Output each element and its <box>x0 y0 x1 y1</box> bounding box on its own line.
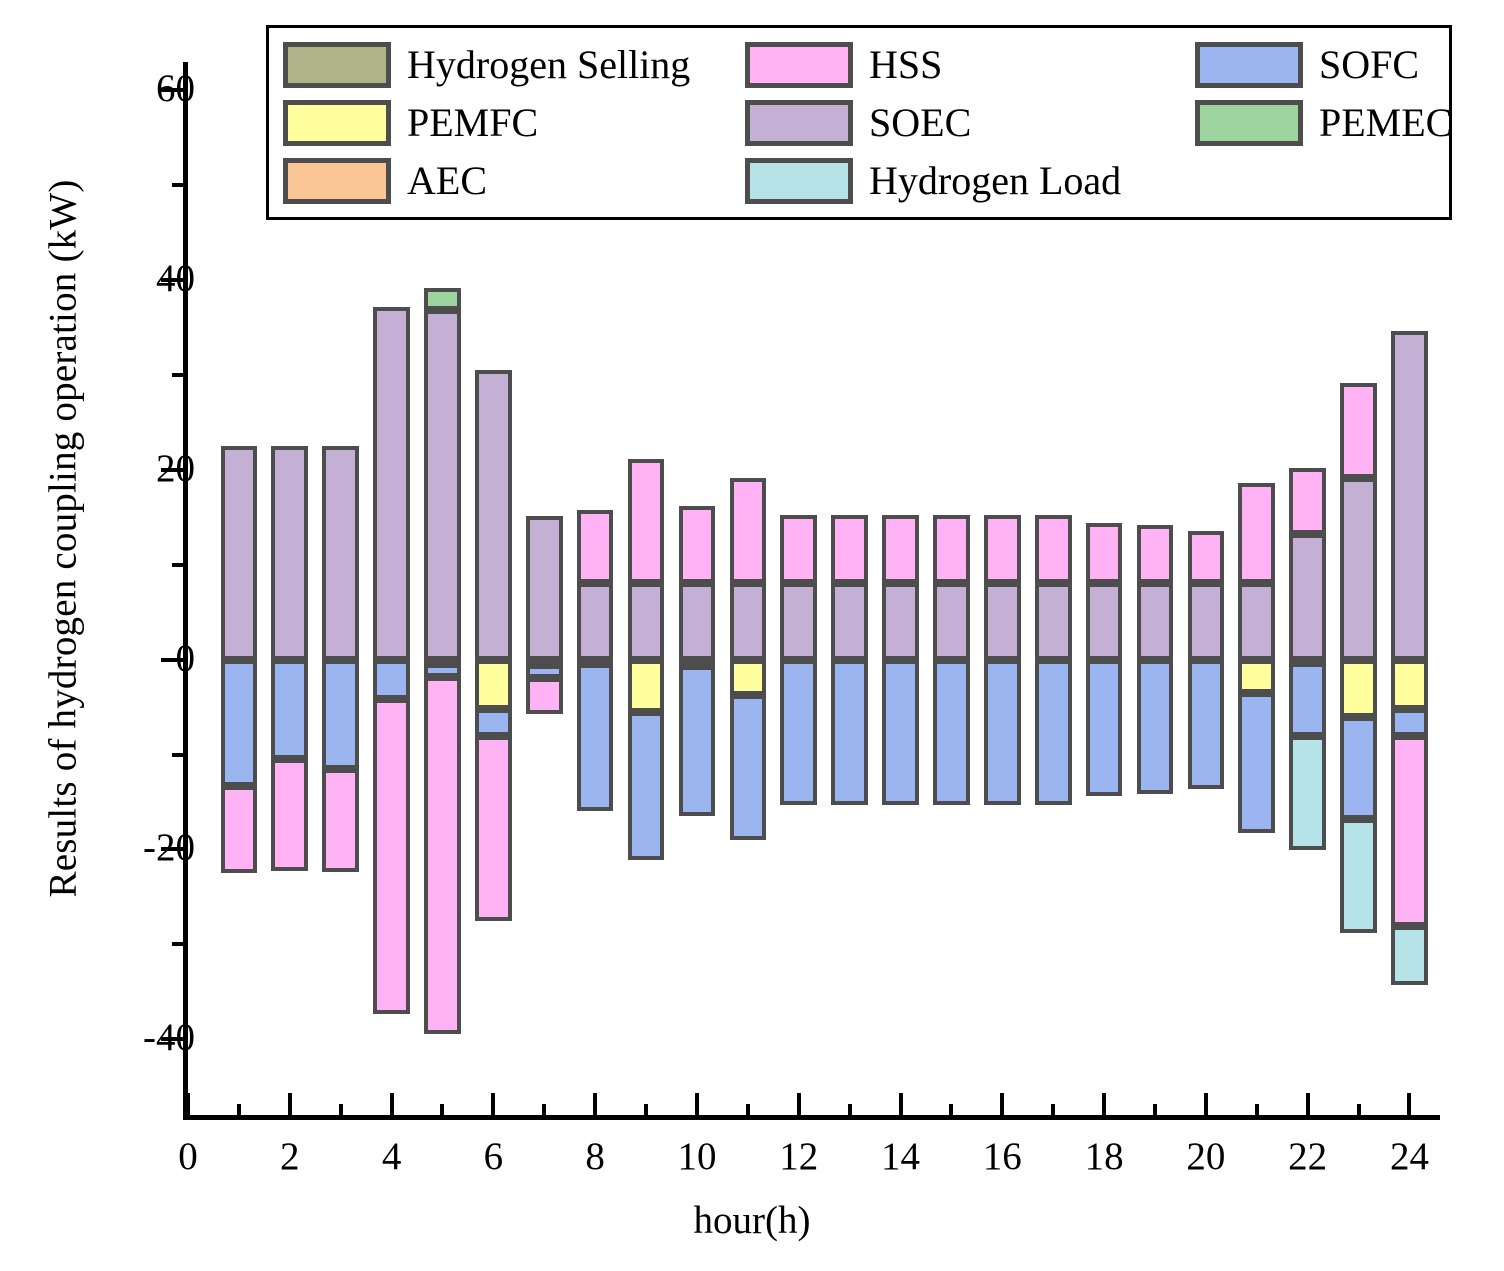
legend-label: SOFC <box>1319 45 1419 85</box>
bar-segment-sofc[interactable] <box>780 660 817 805</box>
bar-segment-soec[interactable] <box>882 583 919 660</box>
bar-segment-soec[interactable] <box>780 583 817 660</box>
bar-segment-sofc[interactable] <box>1238 693 1275 833</box>
legend-item-pemec[interactable]: PEMEC <box>1195 100 1465 146</box>
bar-segment-sofc[interactable] <box>628 712 665 860</box>
bar-segment-soec[interactable] <box>831 583 868 660</box>
bar-segment-soec[interactable] <box>1137 583 1174 660</box>
bar-segment-pemfc[interactable] <box>730 660 767 695</box>
bar-segment-soec[interactable] <box>730 583 767 660</box>
legend-item-hss[interactable]: HSS <box>745 42 1195 88</box>
legend-swatch <box>1195 42 1303 88</box>
chart-root: Results of hydrogen coupling operation (… <box>0 0 1504 1271</box>
bar-segment-sofc[interactable] <box>373 660 410 699</box>
y-tick-label: -20 <box>0 828 195 867</box>
bar-segment-sofc[interactable] <box>1391 709 1428 737</box>
bar-segment-sofc[interactable] <box>1137 660 1174 795</box>
legend-swatch <box>283 100 391 146</box>
bar-segment-soec[interactable] <box>1188 583 1225 660</box>
bar-segment-hss[interactable] <box>730 478 767 583</box>
legend-swatch <box>745 100 853 146</box>
legend-label: PEMFC <box>407 103 538 143</box>
y-tick-label: -40 <box>0 1018 195 1057</box>
legend-item-pemfc[interactable]: PEMFC <box>283 100 745 146</box>
legend-swatch <box>745 42 853 88</box>
bar-segment-sofc[interactable] <box>1188 660 1225 789</box>
bar-segment-soec[interactable] <box>271 446 308 659</box>
bar-segment-soec[interactable] <box>1289 534 1326 659</box>
bar-segment-sofc[interactable] <box>984 660 1021 805</box>
bar-segment-sofc[interactable] <box>933 660 970 805</box>
bar-segment-sofc[interactable] <box>1289 663 1326 735</box>
x-tick-major <box>186 1093 190 1120</box>
bar-segment-pemfc[interactable] <box>1238 660 1275 693</box>
y-axis-title: Results of hydrogen coupling operation (… <box>41 258 86 898</box>
legend-label: HSS <box>869 45 942 85</box>
legend-label: SOEC <box>869 103 971 143</box>
bar-segment-soec[interactable] <box>679 583 716 660</box>
bar-segment-hss[interactable] <box>221 786 258 873</box>
y-axis-line <box>183 62 188 1115</box>
bar-segment-hss[interactable] <box>1340 383 1377 479</box>
bar-segment-pemfc[interactable] <box>475 660 512 709</box>
bar-segment-sofc[interactable] <box>424 664 461 676</box>
bar-segment-hss[interactable] <box>1289 468 1326 534</box>
x-axis-line <box>183 1115 1440 1120</box>
y-tick-label: 60 <box>0 69 195 108</box>
bar-segment-pemec[interactable] <box>424 288 461 310</box>
legend-item-aec[interactable]: AEC <box>283 158 745 204</box>
bar-segment-soec[interactable] <box>984 583 1021 660</box>
bar-segment-soec[interactable] <box>1238 583 1275 660</box>
bar-segment-sofc[interactable] <box>577 664 614 811</box>
bar-segment-hss[interactable] <box>1035 515 1072 583</box>
legend-label: AEC <box>407 161 487 201</box>
bar-segment-hss[interactable] <box>475 736 512 921</box>
legend-item-hydrogen-load[interactable]: Hydrogen Load <box>745 158 1195 204</box>
bar-segment-sofc[interactable] <box>271 660 308 760</box>
bar-segment-hss[interactable] <box>1391 736 1428 926</box>
bar-segment-hydrogen-load[interactable] <box>1340 819 1377 933</box>
bar-segment-soec[interactable] <box>424 310 461 660</box>
chart-legend: Hydrogen SellingHSSSOFCPEMFCSOECPEMECAEC… <box>266 25 1452 220</box>
bar-segment-soec[interactable] <box>526 516 563 659</box>
legend-label: PEMEC <box>1319 103 1452 143</box>
bar-segment-hss[interactable] <box>1238 483 1275 583</box>
bar-segment-hss[interactable] <box>271 759 308 871</box>
bar-segment-sofc[interactable] <box>322 660 359 769</box>
bar-segment-hss[interactable] <box>322 769 359 872</box>
y-tick-minor <box>172 563 188 567</box>
bar-segment-hydrogen-load[interactable] <box>1391 926 1428 985</box>
bar-segment-soec[interactable] <box>1391 331 1428 659</box>
y-tick-label: 0 <box>0 639 195 678</box>
legend-swatch <box>283 158 391 204</box>
bar-segment-hss[interactable] <box>1137 525 1174 583</box>
legend-swatch <box>283 42 391 88</box>
bar-segment-hss[interactable] <box>373 699 410 1015</box>
legend-item-sofc[interactable]: SOFC <box>1195 42 1465 88</box>
y-tick-minor <box>172 373 188 377</box>
bar-segment-soec[interactable] <box>1035 583 1072 660</box>
bar-segment-soec[interactable] <box>1340 478 1377 659</box>
legend-item-hydrogen-selling[interactable]: Hydrogen Selling <box>283 42 745 88</box>
bar-segment-hss[interactable] <box>526 678 563 714</box>
bar-segment-soec[interactable] <box>628 583 665 660</box>
x-axis-title: hour(h) <box>0 1198 1504 1243</box>
bar-segment-sofc[interactable] <box>1035 660 1072 805</box>
bar-segment-sofc[interactable] <box>1340 717 1377 819</box>
bar-column-hour-1[interactable] <box>221 62 258 1115</box>
bar-segment-soec[interactable] <box>577 583 614 660</box>
bar-segment-soec[interactable] <box>475 370 512 659</box>
bar-segment-pemfc[interactable] <box>1391 660 1428 709</box>
bar-segment-hss[interactable] <box>1086 523 1123 583</box>
bar-segment-soec[interactable] <box>322 446 359 659</box>
bar-segment-sofc[interactable] <box>882 660 919 805</box>
bar-segment-hss[interactable] <box>628 459 665 582</box>
bar-segment-hss[interactable] <box>780 515 817 583</box>
bar-segment-soec[interactable] <box>933 583 970 660</box>
bar-segment-hss[interactable] <box>831 515 868 583</box>
bar-segment-sofc[interactable] <box>730 695 767 840</box>
bar-segment-hss[interactable] <box>424 677 461 1035</box>
bar-segment-pemfc[interactable] <box>1340 660 1377 717</box>
bar-segment-sofc[interactable] <box>526 665 563 677</box>
bar-segment-sofc[interactable] <box>1086 660 1123 797</box>
bar-segment-hss[interactable] <box>984 515 1021 583</box>
bar-segment-hss[interactable] <box>933 515 970 583</box>
bar-segment-hydrogen-load[interactable] <box>1289 736 1326 851</box>
y-tick-label: 20 <box>0 449 195 488</box>
legend-label: Hydrogen Selling <box>407 45 690 85</box>
bar-segment-soec[interactable] <box>1086 583 1123 660</box>
legend-swatch <box>745 158 853 204</box>
bar-segment-hss[interactable] <box>1188 531 1225 583</box>
x-tick-label: 24 <box>1349 1137 1469 1176</box>
bar-segment-sofc[interactable] <box>221 660 258 786</box>
y-tick-minor <box>172 942 188 946</box>
bar-segment-hss[interactable] <box>577 510 614 583</box>
bar-segment-hss[interactable] <box>882 515 919 583</box>
bar-segment-hss[interactable] <box>679 506 716 583</box>
bar-segment-pemfc[interactable] <box>628 660 665 712</box>
y-tick-minor <box>172 753 188 757</box>
bar-segment-sofc[interactable] <box>831 660 868 805</box>
legend-item-soec[interactable]: SOEC <box>745 100 1195 146</box>
bar-segment-sofc[interactable] <box>475 709 512 737</box>
y-tick-minor <box>172 183 188 187</box>
bar-segment-soec[interactable] <box>221 446 258 659</box>
bar-segment-sofc[interactable] <box>679 666 716 816</box>
bar-segment-soec[interactable] <box>373 307 410 660</box>
legend-swatch <box>1195 100 1303 146</box>
y-tick-label: 40 <box>0 259 195 298</box>
legend-label: Hydrogen Load <box>869 161 1121 201</box>
